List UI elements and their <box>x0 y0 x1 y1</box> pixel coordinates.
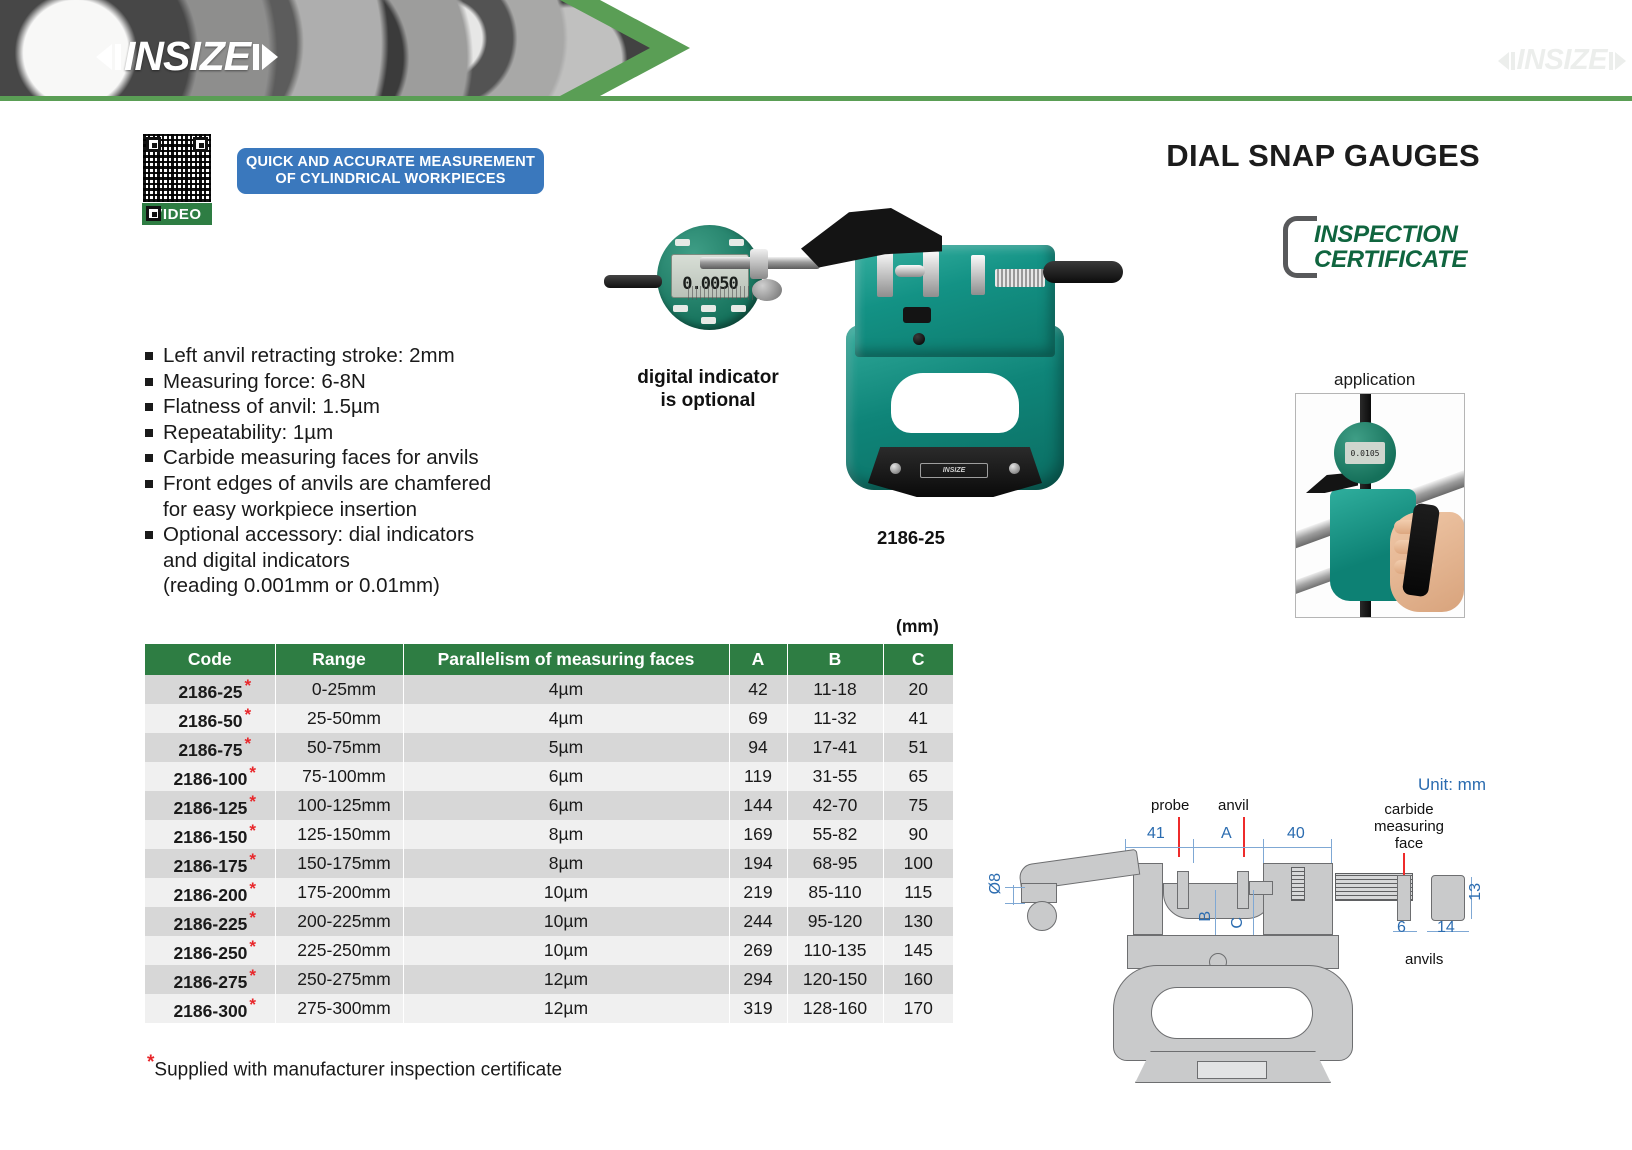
cell-c: 115 <box>883 878 953 907</box>
cell-range: 225-250mm <box>275 936 403 965</box>
watermark-left-bar <box>1511 52 1515 70</box>
certificate-asterisk: * <box>249 763 256 782</box>
code-value: 2186-150 <box>173 827 247 847</box>
table-footnote: *Supplied with manufacturer inspection c… <box>145 1052 562 1081</box>
feature-text: Measuring force: 6-8N <box>163 369 366 395</box>
promo-badge-line1: QUICK AND ACCURATE MEASUREMENT <box>246 154 535 171</box>
cell-code: 2186-100* <box>145 762 275 791</box>
code-value: 2186-250 <box>173 943 247 963</box>
watermark-text: INSIZE <box>1517 44 1607 77</box>
probe-pointer-line <box>1178 817 1180 857</box>
certificate-line1: INSPECTION <box>1314 222 1467 247</box>
diagram-unit-label: Unit: mm <box>1418 775 1486 795</box>
code-value: 2186-200 <box>173 885 247 905</box>
certificate-line2: CERTIFICATE <box>1314 247 1467 272</box>
photo-caption-line1: digital indicator <box>618 366 798 389</box>
cell-parallelism: 10µm <box>403 907 729 936</box>
cell-c: 100 <box>883 849 953 878</box>
cell-a: 42 <box>729 675 787 704</box>
certificate-bracket-icon <box>1283 216 1317 278</box>
code-value: 2186-50 <box>178 711 242 731</box>
indicator-button-data[interactable] <box>729 239 744 246</box>
cell-a: 94 <box>729 733 787 762</box>
code-value: 2186-25 <box>178 682 242 702</box>
cell-range: 200-225mm <box>275 907 403 936</box>
cell-c: 90 <box>883 820 953 849</box>
cell-code: 2186-50* <box>145 704 275 733</box>
cell-parallelism: 8µm <box>403 849 729 878</box>
cell-c: 170 <box>883 994 953 1023</box>
table-row: 2186-125*100-125mm6µm14442-7075 <box>145 791 953 820</box>
dim-tick-right <box>1331 839 1332 863</box>
product-photo: INSIZE 0.0050 <box>600 205 1120 505</box>
photo-caption-line2: is optional <box>618 389 798 412</box>
cell-a: 294 <box>729 965 787 994</box>
cell-code: 2186-200* <box>145 878 275 907</box>
qr-eye-top-left <box>146 137 161 152</box>
page-title: DIAL SNAP GAUGES <box>1166 138 1480 174</box>
clamp-block <box>971 255 985 295</box>
cell-parallelism: 6µm <box>403 762 729 791</box>
diagram-label-anvil: anvil <box>1218 797 1249 814</box>
spindle-link <box>895 265 925 277</box>
feature-text: Left anvil retracting stroke: 2mm <box>163 343 455 369</box>
photo-caption: digital indicator is optional <box>618 366 798 412</box>
thimble-thread <box>995 269 1045 287</box>
watermark-left-arrow-icon <box>1498 52 1509 70</box>
digital-indicator: 0.0050 <box>657 225 762 330</box>
diagram-dim-40: 40 <box>1287 825 1305 843</box>
cell-parallelism: 6µm <box>403 791 729 820</box>
code-value: 2186-100 <box>173 769 247 789</box>
dim-tick-mid2 <box>1263 839 1264 863</box>
cell-parallelism: 12µm <box>403 994 729 1023</box>
indicator-button-abs[interactable] <box>701 305 716 312</box>
cell-a: 69 <box>729 704 787 733</box>
cell-c: 145 <box>883 936 953 965</box>
indicator-stem <box>604 275 662 288</box>
cell-code: 2186-25* <box>145 675 275 704</box>
cell-range: 125-150mm <box>275 820 403 849</box>
code-value: 2186-75 <box>178 740 242 760</box>
cell-a: 269 <box>729 936 787 965</box>
cell-a: 194 <box>729 849 787 878</box>
bullet-icon <box>145 454 153 462</box>
center-latch <box>903 307 931 323</box>
d8-tick-bottom <box>1005 903 1025 904</box>
diagram-label-carbide-2: measuring <box>1361 818 1457 835</box>
table-row: 2186-250*225-250mm10µm269110-135145 <box>145 936 953 965</box>
indicator-collar <box>750 249 768 279</box>
cell-range: 275-300mm <box>275 994 403 1023</box>
gauge-heat-shield-pad: INSIZE <box>868 447 1042 497</box>
feature-item: Flatness of anvil: 1.5µm <box>145 394 565 420</box>
feature-item: Front edges of anvils are chamfered <box>145 471 565 497</box>
feature-list: Left anvil retracting stroke: 2mm Measur… <box>145 343 565 599</box>
cell-code: 2186-300* <box>145 994 275 1023</box>
cell-b: 68-95 <box>787 849 883 878</box>
certificate-asterisk: * <box>249 937 256 956</box>
cell-b: 110-135 <box>787 936 883 965</box>
certificate-asterisk: * <box>245 734 252 753</box>
diagram-dim-13: 13 <box>1467 883 1485 901</box>
cell-code: 2186-250* <box>145 936 275 965</box>
certificate-asterisk: * <box>249 879 256 898</box>
qr-code-icon[interactable] <box>142 133 212 203</box>
indicator-button-power[interactable] <box>701 317 716 324</box>
cell-c: 65 <box>883 762 953 791</box>
diagram-base-plate <box>1197 1061 1267 1079</box>
application-indicator: 0.0105 <box>1334 422 1396 484</box>
cell-c: 51 <box>883 733 953 762</box>
bullet-icon <box>145 378 153 386</box>
feature-item: Measuring force: 6-8N <box>145 369 565 395</box>
cell-parallelism: 8µm <box>403 820 729 849</box>
certificate-asterisk: * <box>249 792 256 811</box>
bullet-icon <box>145 352 153 360</box>
anvil-block-right <box>923 251 939 297</box>
logo-right-arrow-icon <box>262 44 278 70</box>
diagram-anvil-front-view <box>1431 875 1465 921</box>
cell-b: 120-150 <box>787 965 883 994</box>
cell-range: 50-75mm <box>275 733 403 762</box>
table-row: 2186-150*125-150mm8µm16955-8290 <box>145 820 953 849</box>
table-row: 2186-100*75-100mm6µm11931-5565 <box>145 762 953 791</box>
cell-code: 2186-175* <box>145 849 275 878</box>
insize-logo: INSIZE <box>96 33 278 80</box>
column-header-c: C <box>883 644 953 675</box>
insize-watermark: INSIZE <box>1498 44 1626 77</box>
certificate-asterisk: * <box>249 821 256 840</box>
column-header-b: B <box>787 644 883 675</box>
watermark-right-arrow-icon <box>1615 52 1626 70</box>
d8-tick-top <box>1005 887 1025 888</box>
diagram-knurled-ring <box>1291 867 1305 901</box>
logo-left-arrow-icon <box>96 44 112 70</box>
indicator-clamp-knob[interactable] <box>752 279 782 301</box>
diagram-dim-d8: Ø8 <box>987 873 1005 894</box>
diagram-dim-A: A <box>1221 825 1232 843</box>
table-row: 2186-25*0-25mm4µm4211-1820 <box>145 675 953 704</box>
indicator-button-zero[interactable] <box>731 305 746 312</box>
certificate-asterisk: * <box>249 850 256 869</box>
application-label: application <box>1334 370 1415 390</box>
spindle-handle <box>1043 261 1123 283</box>
logo-right-bar <box>253 44 259 70</box>
diagram-dim-14: 14 <box>1437 919 1455 937</box>
table-body: 2186-25*0-25mm4µm4211-18202186-50*25-50m… <box>145 675 953 1023</box>
code-value: 2186-300 <box>173 1001 247 1021</box>
code-value: 2186-125 <box>173 798 247 818</box>
diagram-anvil-block <box>1237 871 1249 909</box>
certificate-asterisk: * <box>245 676 252 695</box>
diagram-frame-cutout <box>1151 987 1313 1039</box>
bullet-icon <box>145 403 153 411</box>
cell-a: 169 <box>729 820 787 849</box>
video-qr-block[interactable]: VIDEO <box>142 133 212 225</box>
certificate-asterisk: * <box>249 995 256 1014</box>
promo-badge: QUICK AND ACCURATE MEASUREMENT OF CYLIND… <box>237 148 544 194</box>
cell-range: 0-25mm <box>275 675 403 704</box>
indicator-analog-scale <box>688 286 762 300</box>
feature-text: Carbide measuring faces for anvils <box>163 445 479 471</box>
cell-parallelism: 4µm <box>403 675 729 704</box>
cell-b: 85-110 <box>787 878 883 907</box>
pad-brand-plate: INSIZE <box>920 463 988 478</box>
column-header-a: A <box>729 644 787 675</box>
cell-code: 2186-150* <box>145 820 275 849</box>
footnote-text: Supplied with manufacturer inspection ce… <box>154 1059 562 1080</box>
feature-text: Flatness of anvil: 1.5µm <box>163 394 380 420</box>
bullet-icon <box>145 531 153 539</box>
pivot-screw <box>913 333 925 345</box>
indicator-button-mtol[interactable] <box>675 239 690 246</box>
anvil-pointer-line <box>1243 817 1245 857</box>
table-row: 2186-275*250-275mm12µm294120-150160 <box>145 965 953 994</box>
cell-c: 20 <box>883 675 953 704</box>
diagram-anvil-side-view <box>1397 875 1411 921</box>
cell-b: 128-160 <box>787 994 883 1023</box>
feature-text-continued: for easy workpiece insertion <box>145 497 565 523</box>
diagram-label-anvils: anvils <box>1405 951 1443 968</box>
column-header-range: Range <box>275 644 403 675</box>
cell-code: 2186-275* <box>145 965 275 994</box>
cell-c: 160 <box>883 965 953 994</box>
certificate-asterisk: * <box>245 705 252 724</box>
table-unit-note: (mm) <box>896 616 939 637</box>
gauge-throat-opening <box>891 373 1019 433</box>
diagram-label-carbide-3: face <box>1371 835 1447 852</box>
code-value: 2186-175 <box>173 856 247 876</box>
inspection-certificate-logo: INSPECTION CERTIFICATE <box>1283 216 1467 278</box>
cell-a: 219 <box>729 878 787 907</box>
dimension-line-top <box>1125 847 1331 848</box>
feature-text: Repeatability: 1µm <box>163 420 333 446</box>
cell-code: 2186-125* <box>145 791 275 820</box>
specification-table: Code Range Parallelism of measuring face… <box>145 644 953 1023</box>
diagram-label-carbide-1: carbide <box>1371 801 1447 818</box>
cell-parallelism: 10µm <box>403 936 729 965</box>
d8-ext-left <box>1013 885 1014 905</box>
cell-b: 31-55 <box>787 762 883 791</box>
table-row: 2186-175*150-175mm8µm19468-95100 <box>145 849 953 878</box>
table-row: 2186-300*275-300mm12µm319128-160170 <box>145 994 953 1023</box>
pad-screw-left <box>890 463 901 474</box>
diagram-label-probe: probe <box>1151 797 1189 814</box>
cell-range: 100-125mm <box>275 791 403 820</box>
cell-c: 41 <box>883 704 953 733</box>
cell-b: 42-70 <box>787 791 883 820</box>
cell-a: 319 <box>729 994 787 1023</box>
pad-screw-right <box>1009 463 1020 474</box>
qr-eye-bottom-left <box>146 206 161 221</box>
catalog-page: INSIZE INSIZE VIDEO QUICK AND ACCURATE M… <box>0 0 1632 1150</box>
gauge-upper-body <box>855 245 1055 357</box>
cell-b: 11-32 <box>787 704 883 733</box>
diagram-dim-B: B <box>1197 911 1215 922</box>
bullet-icon <box>145 480 153 488</box>
cell-a: 244 <box>729 907 787 936</box>
feature-item: Carbide measuring faces for anvils <box>145 445 565 471</box>
diagram-lever-hub <box>1021 883 1057 903</box>
cell-range: 175-200mm <box>275 878 403 907</box>
certificate-asterisk: * <box>249 908 256 927</box>
cell-b: 11-18 <box>787 675 883 704</box>
logo-left-bar <box>115 44 121 70</box>
cell-parallelism: 12µm <box>403 965 729 994</box>
dim-tick-mid1 <box>1193 839 1194 863</box>
column-header-code: Code <box>145 644 275 675</box>
cell-range: 25-50mm <box>275 704 403 733</box>
indicator-button-mmin[interactable] <box>673 305 688 312</box>
feature-item: Optional accessory: dial indicators <box>145 522 565 548</box>
diagram-dim-C: C <box>1229 917 1247 929</box>
diagram-mid-frame <box>1127 935 1339 969</box>
cell-a: 144 <box>729 791 787 820</box>
table-header-row: Code Range Parallelism of measuring face… <box>145 644 953 675</box>
cell-parallelism: 5µm <box>403 733 729 762</box>
insize-logo-text: INSIZE <box>124 33 250 80</box>
cell-code: 2186-225* <box>145 907 275 936</box>
qr-eye-top-right <box>193 137 208 152</box>
table-row: 2186-200*175-200mm10µm21985-110115 <box>145 878 953 907</box>
diagram-dim-6: 6 <box>1397 919 1406 937</box>
application-indicator-display: 0.0105 <box>1345 442 1385 464</box>
cell-a: 119 <box>729 762 787 791</box>
code-value: 2186-225 <box>173 914 247 934</box>
feature-item: Left anvil retracting stroke: 2mm <box>145 343 565 369</box>
feature-item: Repeatability: 1µm <box>145 420 565 446</box>
cell-b: 55-82 <box>787 820 883 849</box>
cell-range: 75-100mm <box>275 762 403 791</box>
diagram-dim-41: 41 <box>1147 825 1165 843</box>
feature-text-continued: (reading 0.001mm or 0.01mm) <box>145 573 565 599</box>
diagram-probe-block <box>1177 871 1189 909</box>
cell-b: 17-41 <box>787 733 883 762</box>
table-row: 2186-225*200-225mm10µm24495-120130 <box>145 907 953 936</box>
watermark-right-bar <box>1609 52 1613 70</box>
feature-text: Front edges of anvils are chamfered <box>163 471 491 497</box>
certificate-asterisk: * <box>249 966 256 985</box>
cell-parallelism: 4µm <box>403 704 729 733</box>
product-model-caption: 2186-25 <box>877 527 945 549</box>
code-value: 2186-275 <box>173 972 247 992</box>
cell-b: 95-120 <box>787 907 883 936</box>
cell-range: 250-275mm <box>275 965 403 994</box>
feature-text-continued: and digital indicators <box>145 548 565 574</box>
header-green-rule <box>0 96 1632 101</box>
cell-code: 2186-75* <box>145 733 275 762</box>
promo-badge-line2: OF CYLINDRICAL WORKPIECES <box>275 171 505 188</box>
page-header: INSIZE INSIZE <box>0 0 1632 96</box>
application-photo: 0.0105 <box>1295 393 1465 618</box>
cell-c: 75 <box>883 791 953 820</box>
column-header-parallelism: Parallelism of measuring faces <box>403 644 729 675</box>
table-row: 2186-75*50-75mm5µm9417-4151 <box>145 733 953 762</box>
table-row: 2186-50*25-50mm4µm6911-3241 <box>145 704 953 733</box>
cell-parallelism: 10µm <box>403 878 729 907</box>
certificate-text: INSPECTION CERTIFICATE <box>1314 222 1467 272</box>
cell-range: 150-175mm <box>275 849 403 878</box>
bullet-icon <box>145 429 153 437</box>
cell-c: 130 <box>883 907 953 936</box>
anvil-block-left <box>877 251 893 297</box>
technical-diagram: Unit: mm probe anvil 41 A 40 Ø8 B <box>975 775 1495 1085</box>
carbide-pointer-line <box>1403 853 1405 875</box>
diagram-lever-knob <box>1027 901 1057 931</box>
feature-text: Optional accessory: dial indicators <box>163 522 474 548</box>
